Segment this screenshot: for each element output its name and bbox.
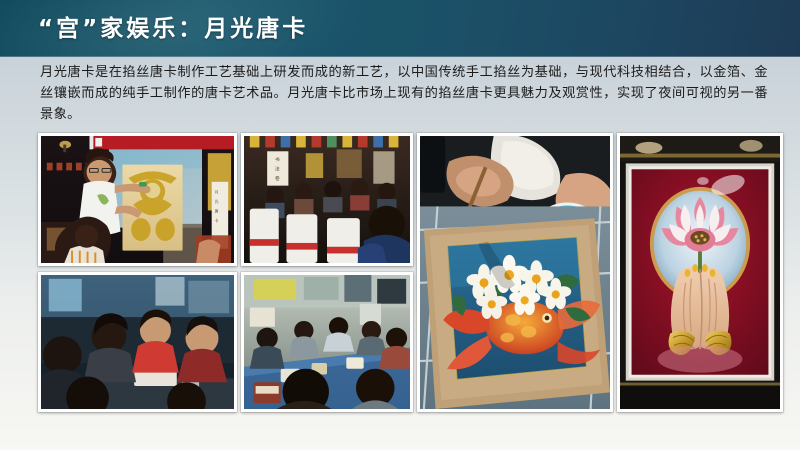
svg-text:光: 光 xyxy=(215,199,219,204)
svg-text:月: 月 xyxy=(215,189,219,194)
photo-students-at-table xyxy=(38,272,237,412)
svg-text:卡: 卡 xyxy=(215,218,219,223)
photo-artist-painting-goldfish xyxy=(417,133,613,412)
photo-5-image xyxy=(420,136,610,409)
photo-6-image xyxy=(620,136,780,409)
photo-1-image: 月光唐卡 xyxy=(41,136,234,263)
photo-presenter-with-thangka: 月光唐卡 xyxy=(38,133,237,266)
photo-gallery: 月光唐卡 xyxy=(0,0,800,450)
photo-workshop-rows: 书法卷 xyxy=(241,133,413,266)
photo-4-image xyxy=(244,275,410,409)
svg-text:唐: 唐 xyxy=(215,208,219,213)
photo-2-image xyxy=(41,275,234,409)
photo-classroom-long-table xyxy=(241,272,413,412)
photo-3-image: 书法卷 xyxy=(244,136,410,263)
photo-framed-lotus-thangka xyxy=(617,133,783,412)
